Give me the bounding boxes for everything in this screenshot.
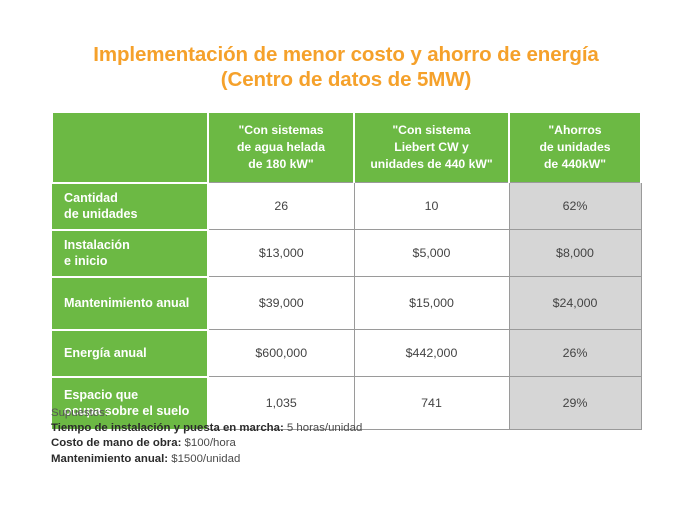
table-body: Cantidad de unidades 26 10 62% Instalaci… <box>52 183 641 430</box>
row-label-mantenimiento-anual: Mantenimiento anual <box>52 277 208 330</box>
header-line: Liebert CW y <box>394 140 469 154</box>
header-line: "Ahorros <box>548 123 601 137</box>
assumption-value: $1500/unidad <box>171 453 240 465</box>
row-label-line: Energía anual <box>64 346 147 360</box>
cell-savings-value: 62% <box>509 183 641 230</box>
row-label-cantidad-de-unidades: Cantidad de unidades <box>52 183 208 230</box>
assumptions-block: Supuestos: Tiempo de instalación y puest… <box>51 406 362 467</box>
header-line: de 440kW" <box>544 157 606 171</box>
row-label-instalacion-e-inicio: Instalación e inicio <box>52 230 208 277</box>
assumption-value: $100/hora <box>185 437 236 449</box>
assumption-item: Mantenimiento anual: $1500/unidad <box>51 452 362 467</box>
cell-value: $39,000 <box>208 277 354 330</box>
cell-value: $442,000 <box>354 330 509 377</box>
table-header: "Con sistemas de agua helada de 180 kW" … <box>52 113 641 183</box>
header-line: de 180 kW" <box>248 157 313 171</box>
header-line: "Con sistemas <box>238 123 323 137</box>
header-line: "Con sistema <box>392 123 470 137</box>
row-label-line: de unidades <box>64 207 137 221</box>
cell-value: $13,000 <box>208 230 354 277</box>
assumption-label: Costo de mano de obra: <box>51 437 181 449</box>
row-label-line: Espacio que <box>64 388 138 402</box>
table-row: Cantidad de unidades 26 10 62% <box>52 183 641 230</box>
assumption-value: 5 horas/unidad <box>287 422 362 434</box>
cell-savings-value: 26% <box>509 330 641 377</box>
table-row: Energía anual $600,000 $442,000 26% <box>52 330 641 377</box>
cell-value: 10 <box>354 183 509 230</box>
assumptions-heading: Supuestos: <box>51 406 362 421</box>
cell-value: 741 <box>354 377 509 430</box>
table-header-corner <box>52 113 208 183</box>
header-line: unidades de 440 kW" <box>370 157 492 171</box>
comparison-table: "Con sistemas de agua helada de 180 kW" … <box>51 113 642 431</box>
page-title-line-2: (Centro de datos de 5MW) <box>0 67 692 92</box>
table-header-row: "Con sistemas de agua helada de 180 kW" … <box>52 113 641 183</box>
row-label-line: Cantidad <box>64 191 118 205</box>
comparison-table-container: "Con sistemas de agua helada de 180 kW" … <box>51 113 640 431</box>
table-row: Instalación e inicio $13,000 $5,000 $8,0… <box>52 230 641 277</box>
cell-savings-value: $24,000 <box>509 277 641 330</box>
assumption-label: Mantenimiento anual: <box>51 453 168 465</box>
table-header-liebert-cw: "Con sistema Liebert CW y unidades de 44… <box>354 113 509 183</box>
table-row: Mantenimiento anual $39,000 $15,000 $24,… <box>52 277 641 330</box>
cell-value: $15,000 <box>354 277 509 330</box>
table-header-chilled-water: "Con sistemas de agua helada de 180 kW" <box>208 113 354 183</box>
table-header-savings: "Ahorros de unidades de 440kW" <box>509 113 641 183</box>
page-title: Implementación de menor costo y ahorro d… <box>0 42 692 92</box>
row-label-energia-anual: Energía anual <box>52 330 208 377</box>
cell-savings-value: $8,000 <box>509 230 641 277</box>
row-label-line: e inicio <box>64 254 107 268</box>
header-line: de unidades <box>539 140 610 154</box>
header-line: de agua helada <box>237 140 325 154</box>
row-label-line: Mantenimiento anual <box>64 296 189 310</box>
assumption-label: Tiempo de instalación y puesta en marcha… <box>51 422 284 434</box>
cell-value: $5,000 <box>354 230 509 277</box>
cell-savings-value: 29% <box>509 377 641 430</box>
page-title-line-1: Implementación de menor costo y ahorro d… <box>0 42 692 67</box>
row-label-line: Instalación <box>64 238 130 252</box>
assumption-item: Costo de mano de obra: $100/hora <box>51 436 362 451</box>
cell-value: $600,000 <box>208 330 354 377</box>
cell-value: 26 <box>208 183 354 230</box>
assumption-item: Tiempo de instalación y puesta en marcha… <box>51 421 362 436</box>
